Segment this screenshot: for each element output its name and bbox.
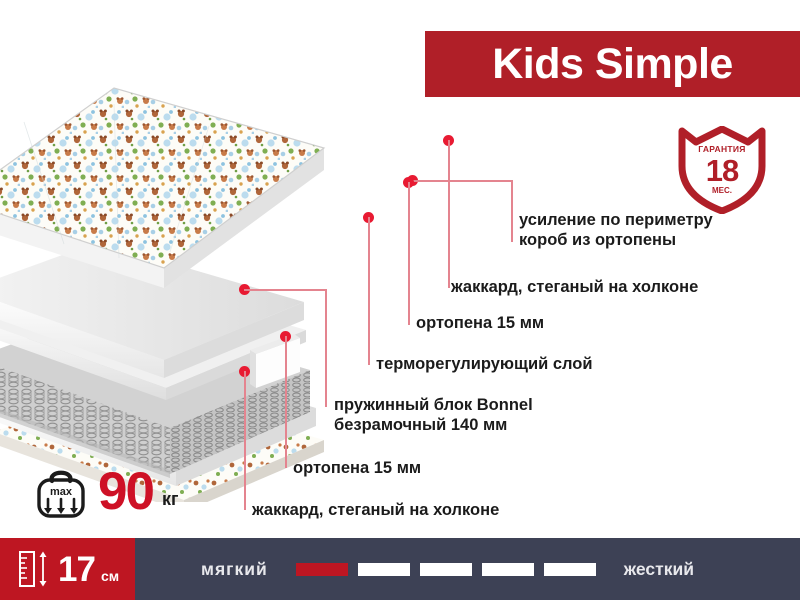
callout-leader-ortofoam-top (408, 182, 410, 325)
ruler-icon (18, 549, 52, 589)
callout-leader-jacquard-bottom (244, 371, 246, 510)
callout-line-perimeter-2: короб из ортопены (519, 230, 713, 250)
firmness-soft-label: мягкий (201, 559, 268, 580)
infographic-root: Kids Simple ГАРАНТИЯ 18 МЕС. (0, 0, 800, 600)
kettlebell-max-text: max (50, 486, 73, 498)
callout-leader-perimeter-v (511, 180, 513, 242)
firmness-step-1[interactable] (296, 563, 348, 576)
callout-label-bonnel: пружинный блок Bonnel безрамочный 140 мм (334, 395, 533, 435)
firmness-step-4[interactable] (482, 563, 534, 576)
mattress-illustration (0, 82, 464, 502)
warranty-badge: ГАРАНТИЯ 18 МЕС. (676, 126, 768, 214)
product-title-banner: Kids Simple (425, 31, 800, 97)
callout-leader-ortofoam-bottom (285, 336, 287, 468)
callout-line-bonnel-2: безрамочный 140 мм (334, 415, 533, 435)
bottom-bar: 17 см мягкий жесткий (0, 538, 800, 600)
callout-label-jacquard-bottom: жаккард, стеганый на холконе (252, 500, 499, 520)
page-title: Kids Simple (492, 43, 733, 86)
height-panel: 17 см (0, 538, 135, 600)
callout-label-ortofoam-bottom: ортопена 15 мм (293, 458, 421, 478)
firmness-panel: мягкий жесткий (135, 538, 800, 600)
firmness-step-2[interactable] (358, 563, 410, 576)
callout-leader-jacquard-top (448, 140, 450, 288)
height-unit: см (101, 568, 119, 584)
max-weight-unit: кг (162, 489, 179, 510)
callout-label-jacquard-top: жаккард, стеганый на холконе (451, 277, 698, 297)
mattress-layers-diagram (0, 82, 464, 502)
callout-leader-thermo (368, 217, 370, 365)
max-weight-value: 90 (98, 465, 153, 518)
callout-label-perimeter: усиление по периметру короб из ортопены (519, 210, 713, 250)
callout-label-ortofoam-top: ортопена 15 мм (416, 313, 544, 333)
callout-line-bonnel-1: пружинный блок Bonnel (334, 395, 533, 415)
warranty-value: 18 (706, 155, 738, 186)
warranty-unit: МЕС. (712, 187, 732, 195)
max-weight-badge: max 90 кг (34, 462, 178, 520)
callout-label-thermo: терморегулирующий слой (376, 354, 592, 374)
firmness-scale (296, 563, 596, 576)
height-value: 17 (58, 552, 95, 587)
firmness-firm-label: жесткий (624, 559, 694, 580)
callout-leader-bonnel-h (244, 289, 326, 291)
layer-jacquard-top (0, 88, 324, 288)
firmness-step-5[interactable] (544, 563, 596, 576)
callout-line-perimeter-1: усиление по периметру (519, 210, 713, 230)
callout-leader-bonnel-v (325, 289, 327, 407)
kettlebell-icon: max (34, 462, 88, 520)
callout-leader-perimeter-h (412, 180, 512, 182)
firmness-step-3[interactable] (420, 563, 472, 576)
